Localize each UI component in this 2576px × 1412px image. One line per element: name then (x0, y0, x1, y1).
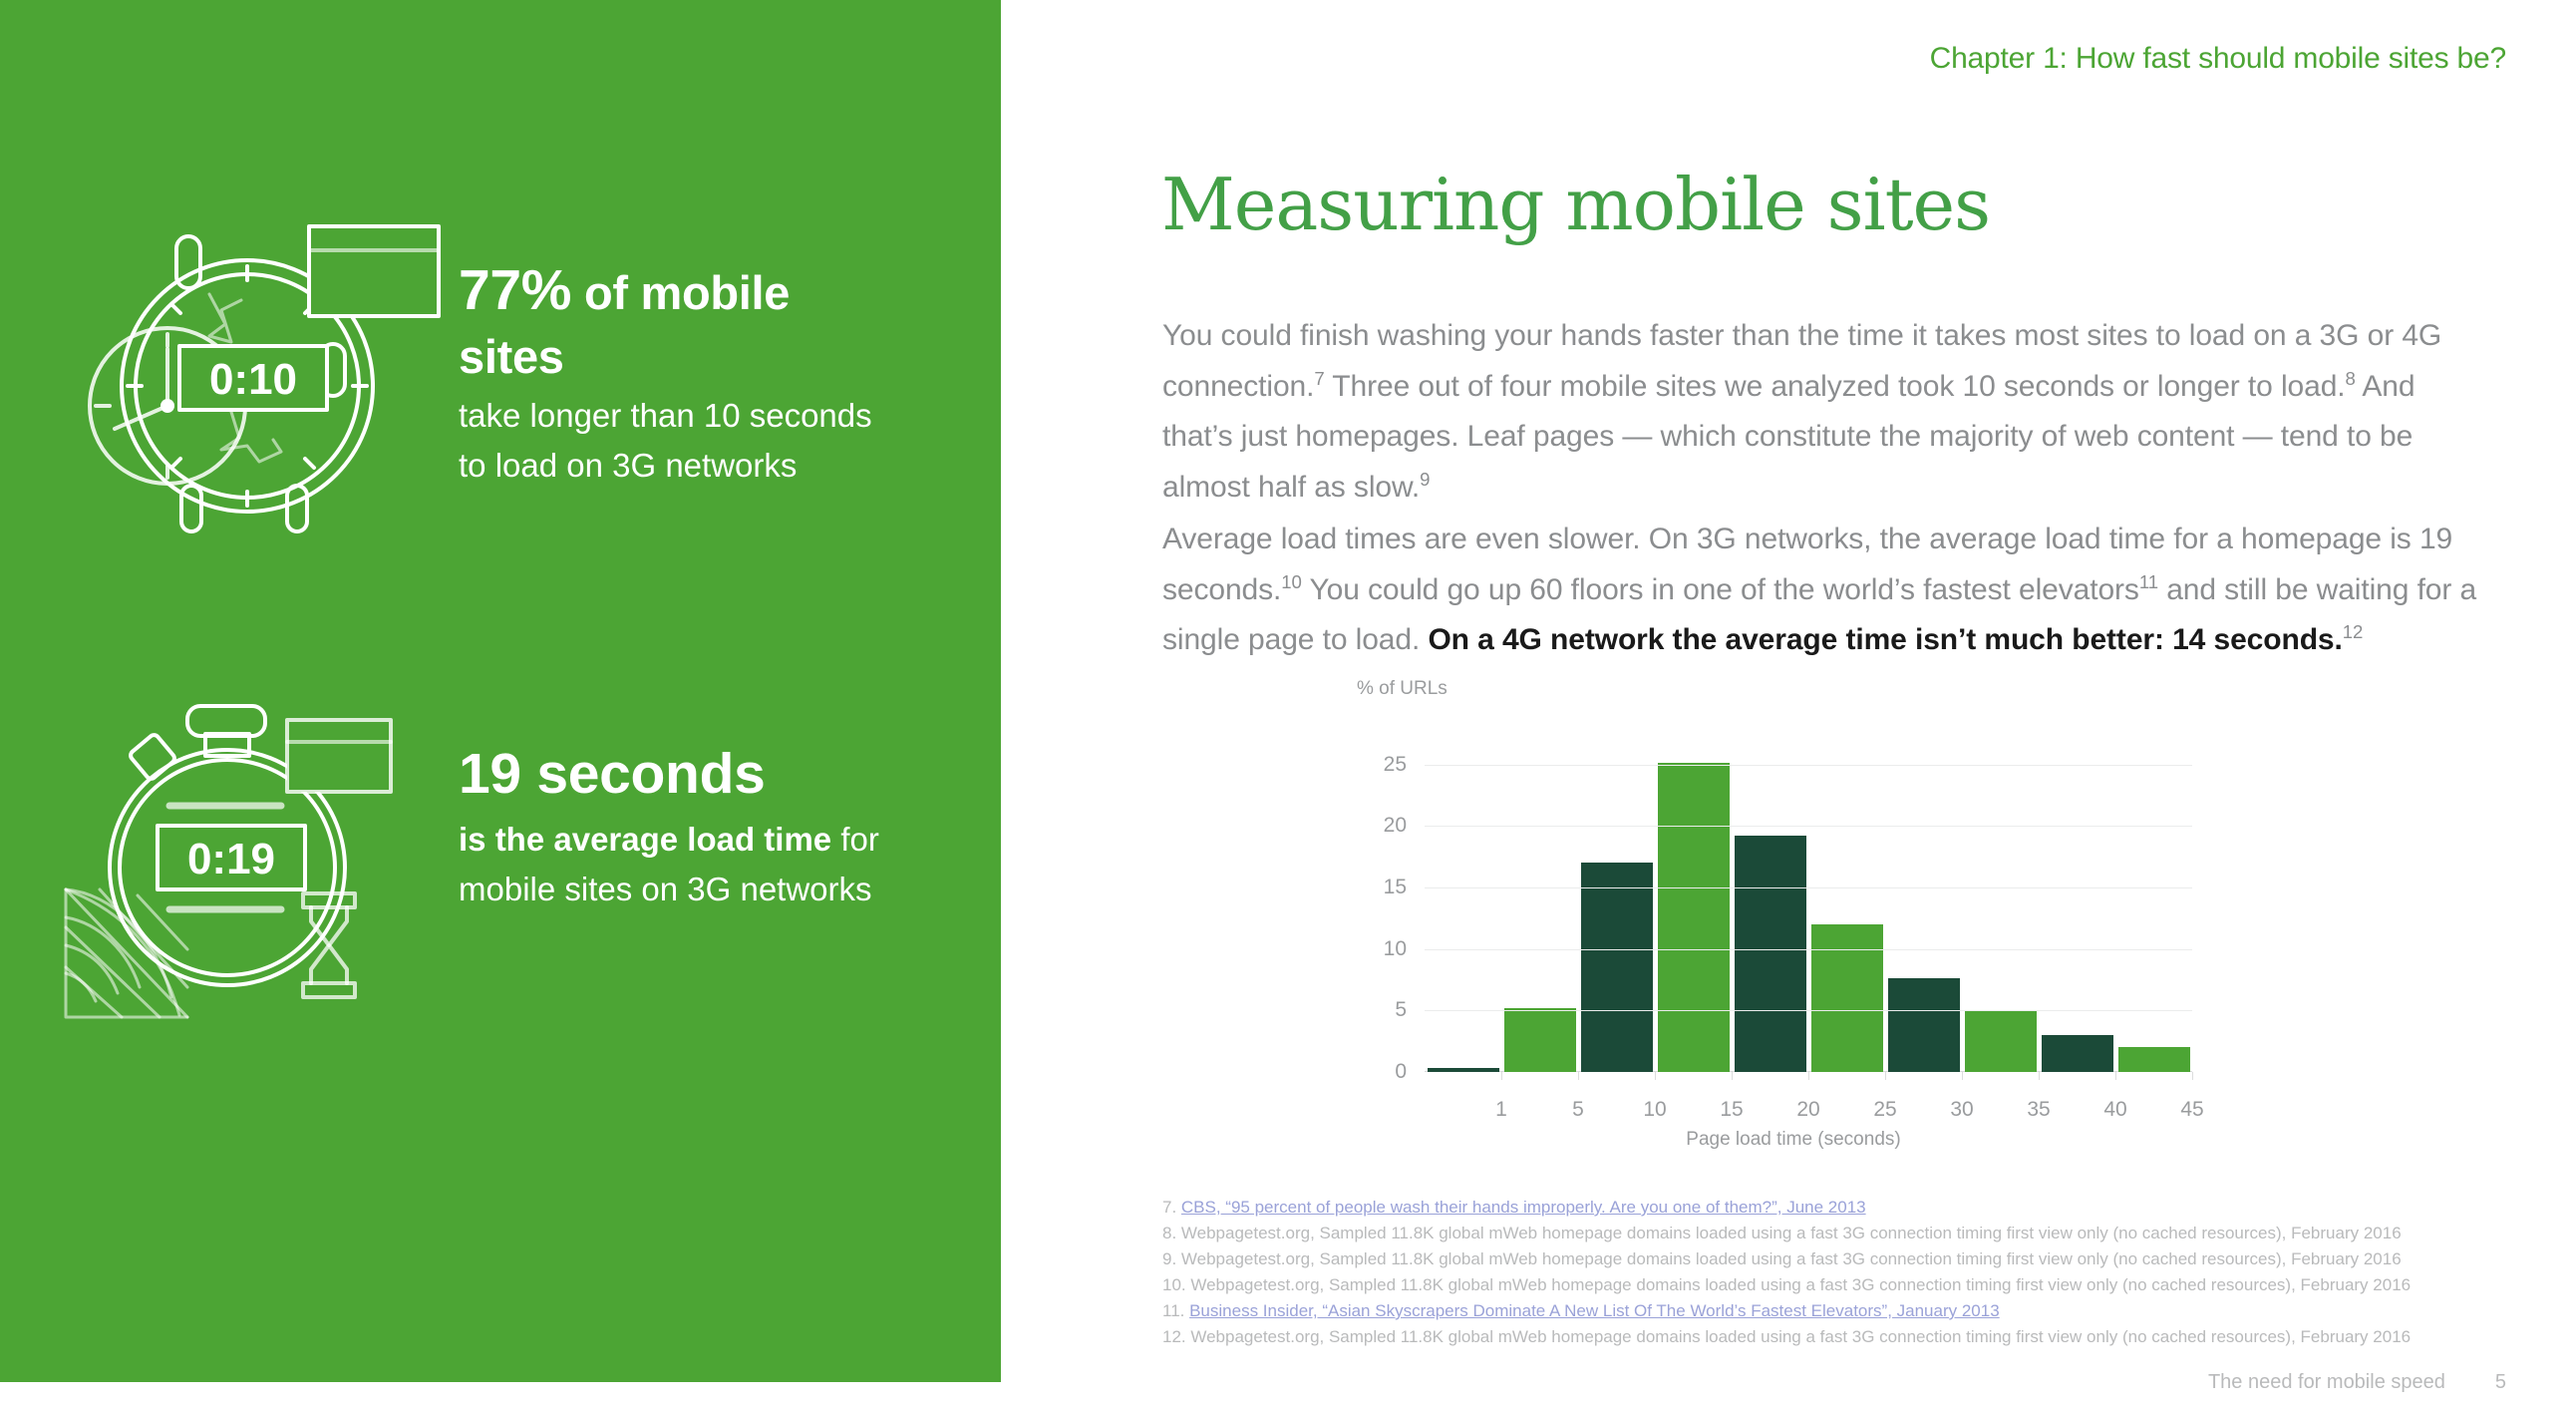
footnote-number: 11. (1162, 1301, 1189, 1320)
stat-headline-77: 77% of mobile sites (459, 254, 887, 387)
footnote-text: Webpagetest.org, Sampled 11.8K global mW… (1181, 1224, 2402, 1242)
chart-gridline (1425, 765, 2192, 766)
chart-y-tick-label: 0 (1395, 1060, 1407, 1084)
left-green-panel: 0:10 77% of mobile sites take longer tha… (0, 0, 1001, 1382)
stat-headline-number: 19 seconds (459, 742, 766, 806)
page-load-time-histogram: % of URLs 0510152025151015202530354045 P… (1335, 678, 2252, 1177)
chart-x-tick-label: 15 (1720, 1098, 1743, 1122)
right-content-area: Chapter 1: How fast should mobile sites … (1001, 0, 2576, 1412)
page-title: Measuring mobile sites (1161, 163, 1990, 246)
clock-display-0-10: 0:10 (209, 355, 297, 404)
chart-x-tickmark (1808, 1072, 1809, 1080)
chart-y-tick-label: 20 (1384, 814, 1407, 838)
chart-x-tickmark (2039, 1072, 2040, 1080)
chart-bar (2042, 1035, 2113, 1072)
footnote-item[interactable]: 11. Business Insider, “Asian Skyscrapers… (1162, 1298, 2488, 1324)
stat-text-19-seconds: 19 seconds is the average load time for … (459, 698, 887, 914)
stat-headline-19: 19 seconds (459, 738, 887, 811)
footnote-ref-7: 7 (1314, 368, 1324, 389)
footnote-ref-12: 12 (2343, 621, 2363, 642)
chart-bar (1428, 1068, 1499, 1072)
footnote-ref-11: 11 (2139, 571, 2158, 592)
stat-sub-bold: is the average load time (459, 821, 831, 858)
p2-bold-highlight: On a 4G network the average time isn’t m… (1428, 623, 2342, 656)
cracked-alarm-clock-icon: 0:10 (60, 214, 459, 543)
chart-bars-group (1425, 740, 2192, 1072)
chart-x-tick-label: 5 (1572, 1098, 1584, 1122)
chart-x-tickmark (1501, 1072, 1502, 1080)
footnote-item: 8. Webpagetest.org, Sampled 11.8K global… (1162, 1221, 2488, 1246)
chart-x-tickmark (1962, 1072, 1963, 1080)
chart-x-tick-label: 20 (1796, 1098, 1819, 1122)
document-page: 0:10 77% of mobile sites take longer tha… (0, 0, 2576, 1412)
footnote-text: Webpagetest.org, Sampled 11.8K global mW… (1190, 1327, 2411, 1346)
footnote-number: 12. (1162, 1327, 1190, 1346)
chart-bar (2118, 1047, 2190, 1072)
footnote-number: 10. (1162, 1275, 1190, 1294)
chart-gridline (1425, 826, 2192, 827)
footnote-ref-8: 8 (2346, 368, 2356, 389)
chart-bar (1658, 763, 1730, 1072)
stat-block-77-percent: 0:10 77% of mobile sites take longer tha… (60, 214, 887, 543)
chart-x-tickmark (2192, 1072, 2193, 1080)
chart-bar (1735, 836, 1806, 1072)
chart-bar (1581, 863, 1653, 1072)
chart-bar (1965, 1010, 2037, 1072)
stat-headline-number: 77% (459, 258, 571, 322)
p1-b: Three out of four mobile sites we analyz… (1325, 370, 2346, 403)
chart-x-tick-label: 10 (1643, 1098, 1666, 1122)
chart-gridline (1425, 887, 2192, 888)
chart-x-tickmark (1655, 1072, 1656, 1080)
chart-x-tickmark (2115, 1072, 2116, 1080)
footnote-link[interactable]: Business Insider, “Asian Skyscrapers Dom… (1189, 1301, 2000, 1320)
footnote-text: Webpagetest.org, Sampled 11.8K global mW… (1190, 1275, 2411, 1294)
stat-sub-19: is the average load time for mobile site… (459, 815, 887, 914)
footer-doc-title: The need for mobile speed (2208, 1371, 2445, 1394)
clock-display-0-19: 0:19 (187, 835, 275, 883)
chart-x-axis-label: Page load time (seconds) (1335, 1129, 2252, 1151)
page-footer: The need for mobile speed 5 (2208, 1371, 2506, 1394)
footnote-link[interactable]: CBS, “95 percent of people wash their ha… (1181, 1198, 1866, 1217)
footer-page-number: 5 (2495, 1371, 2506, 1394)
chart-y-tick-label: 10 (1384, 937, 1407, 961)
paragraph-2: Average load times are even slower. On 3… (1162, 515, 2478, 666)
p2-b: You could go up 60 floors in one of the … (1302, 573, 2139, 606)
chart-y-tick-label: 15 (1384, 876, 1407, 899)
chart-bar (1888, 978, 1960, 1072)
chart-x-tick-label: 25 (1873, 1098, 1896, 1122)
chapter-label: Chapter 1: How fast should mobile sites … (1930, 42, 2506, 76)
chart-x-tick-label: 1 (1495, 1098, 1507, 1122)
chart-y-axis-label: % of URLs (1357, 678, 1448, 700)
footnote-number: 7. (1162, 1198, 1181, 1217)
stopwatch-cobweb-icon: 0:19 (60, 698, 459, 1027)
footnote-number: 8. (1162, 1224, 1181, 1242)
chart-x-tickmark (1732, 1072, 1733, 1080)
chart-plot-area: 0510152025151015202530354045 (1425, 740, 2192, 1072)
footnotes-list: 7. CBS, “95 percent of people wash their… (1162, 1195, 2488, 1350)
paragraph-1: You could finish washing your hands fast… (1162, 311, 2478, 514)
chart-x-tickmark (1885, 1072, 1886, 1080)
chart-y-tick-label: 5 (1395, 998, 1407, 1022)
footnote-item[interactable]: 7. CBS, “95 percent of people wash their… (1162, 1195, 2488, 1221)
footnote-item: 12. Webpagetest.org, Sampled 11.8K globa… (1162, 1324, 2488, 1350)
stat-text-77-percent: 77% of mobile sites take longer than 10 … (459, 214, 887, 491)
chart-bar (1504, 1008, 1576, 1072)
footnote-item: 10. Webpagetest.org, Sampled 11.8K globa… (1162, 1272, 2488, 1298)
chart-x-tick-label: 40 (2103, 1098, 2126, 1122)
chart-gridline (1425, 949, 2192, 950)
chart-x-tick-label: 30 (1950, 1098, 1973, 1122)
footnote-ref-9: 9 (1420, 469, 1430, 490)
chart-x-tick-label: 45 (2180, 1098, 2203, 1122)
chart-y-tick-label: 25 (1384, 753, 1407, 777)
footnote-number: 9. (1162, 1249, 1181, 1268)
chart-bar (1811, 924, 1883, 1072)
stat-block-19-seconds: 0:19 19 seconds is the average load time… (60, 698, 887, 1027)
chart-gridline (1425, 1010, 2192, 1011)
footnote-item: 9. Webpagetest.org, Sampled 11.8K global… (1162, 1246, 2488, 1272)
stat-sub-77: take longer than 10 seconds to load on 3… (459, 391, 887, 491)
footnote-ref-10: 10 (1281, 571, 1301, 592)
footnote-text: Webpagetest.org, Sampled 11.8K global mW… (1181, 1249, 2402, 1268)
chart-x-tickmark (1578, 1072, 1579, 1080)
chart-x-tick-label: 35 (2027, 1098, 2050, 1122)
